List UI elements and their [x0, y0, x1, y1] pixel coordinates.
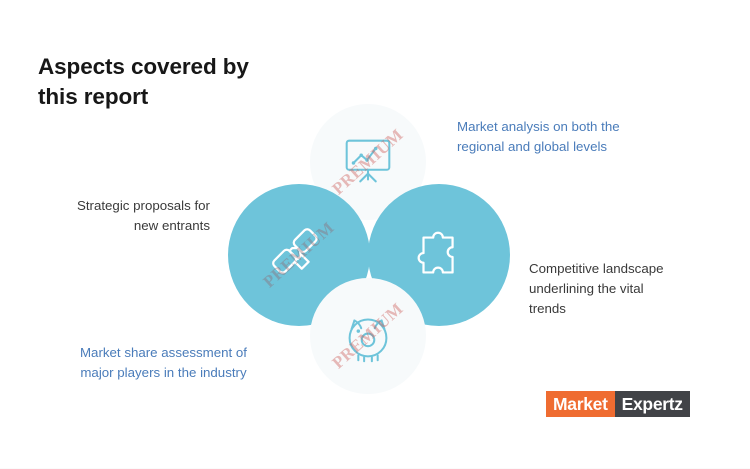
- callout-market-share: Market share assessment of major players…: [56, 343, 271, 383]
- slide-canvas: Aspects covered by this report PREMIUM: [0, 0, 750, 469]
- market-expertz-logo[interactable]: Market Expertz: [546, 391, 690, 417]
- piggy-bank-icon: PREMIUM: [337, 305, 399, 367]
- callout-line: Market analysis on both the: [457, 117, 672, 137]
- callout-line: Strategic proposals for: [30, 196, 210, 216]
- callout-line: Competitive landscape: [529, 259, 719, 279]
- callout-line: Market share assessment of: [56, 343, 271, 363]
- presentation-chart-icon: PREMIUM: [337, 131, 399, 193]
- callout-market-analysis: Market analysis on both the regional and…: [457, 117, 672, 157]
- handshake-icon: PREMIUM: [268, 224, 330, 286]
- callout-line: underlining the vital: [529, 279, 719, 299]
- logo-market-word: Market: [546, 391, 615, 417]
- puzzle-piece-icon: [408, 224, 470, 286]
- callout-competitive-landscape: Competitive landscape underlining the vi…: [529, 259, 719, 319]
- page-title-line-1: Aspects covered by: [38, 52, 358, 82]
- callout-line: trends: [529, 299, 719, 319]
- callout-line: regional and global levels: [457, 137, 672, 157]
- callout-line: new entrants: [30, 216, 210, 236]
- petal-bottom-market-share[interactable]: PREMIUM: [310, 278, 426, 394]
- callout-line: major players in the industry: [56, 363, 271, 383]
- logo-expertz-word: Expertz: [615, 391, 690, 417]
- callout-strategic-proposals: Strategic proposals for new entrants: [30, 196, 210, 236]
